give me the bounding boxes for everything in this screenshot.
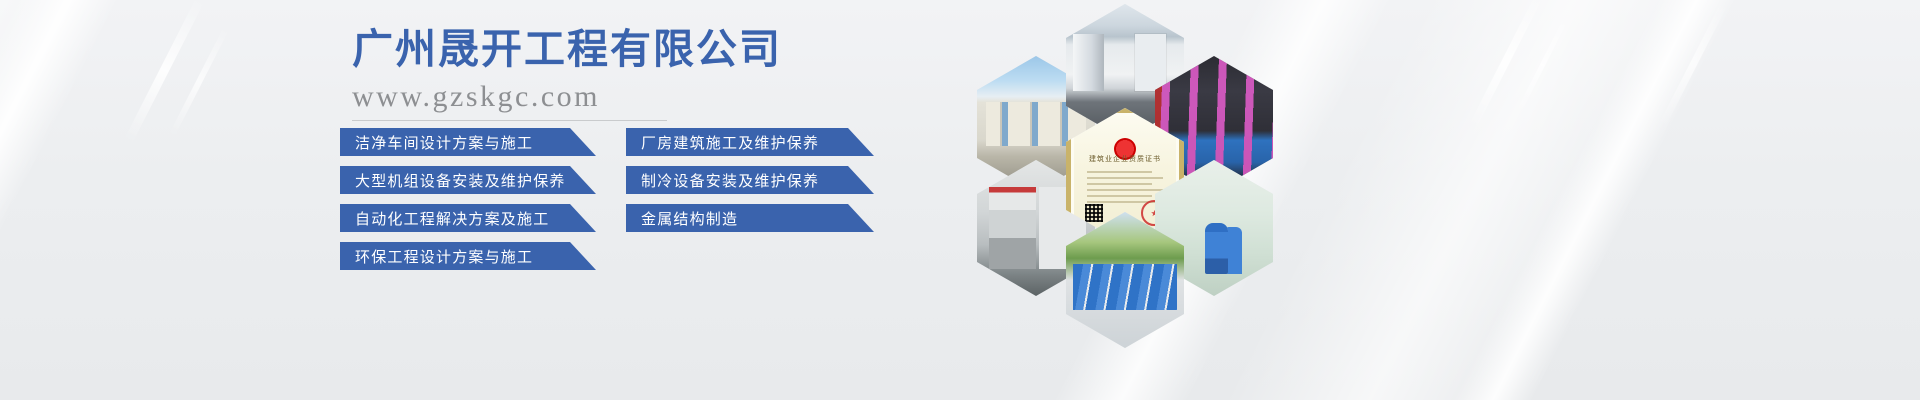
company-name: 广州晟开工程有限公司: [352, 26, 892, 73]
qr-code-icon: [1085, 204, 1103, 222]
company-identity-block: 广州晟开工程有限公司 www.gzskgc.com: [352, 26, 892, 121]
service-tag-environmental[interactable]: 环保工程设计方案与施工: [340, 242, 596, 270]
service-tag-column-1: 洁净车间设计方案与施工 大型机组设备安装及维护保养 自动化工程解决方案及施工 环…: [340, 128, 596, 280]
service-tag-column-2: 厂房建筑施工及维护保养 制冷设备安装及维护保养 金属结构制造: [626, 128, 874, 242]
service-tag-metal-structure[interactable]: 金属结构制造: [626, 204, 874, 232]
service-tag-clean-workshop[interactable]: 洁净车间设计方案与施工: [340, 128, 596, 156]
service-tag-plant-construction[interactable]: 厂房建筑施工及维护保养: [626, 128, 874, 156]
service-tag-refrigeration[interactable]: 制冷设备安装及维护保养: [626, 166, 874, 194]
company-banner: 广州晟开工程有限公司 www.gzskgc.com 洁净车间设计方案与施工 大型…: [0, 0, 1920, 400]
company-website[interactable]: www.gzskgc.com: [352, 80, 892, 114]
hexagon-photo-gallery: 建筑业企业资质证书: [955, 0, 1295, 400]
title-divider: [352, 120, 667, 121]
service-tag-large-equipment[interactable]: 大型机组设备安装及维护保养: [340, 166, 596, 194]
service-tag-automation[interactable]: 自动化工程解决方案及施工: [340, 204, 596, 232]
certificate-title: 建筑业企业资质证书: [1089, 154, 1161, 164]
service-tag-list: 洁净车间设计方案与施工 大型机组设备安装及维护保养 自动化工程解决方案及施工 环…: [340, 128, 874, 280]
